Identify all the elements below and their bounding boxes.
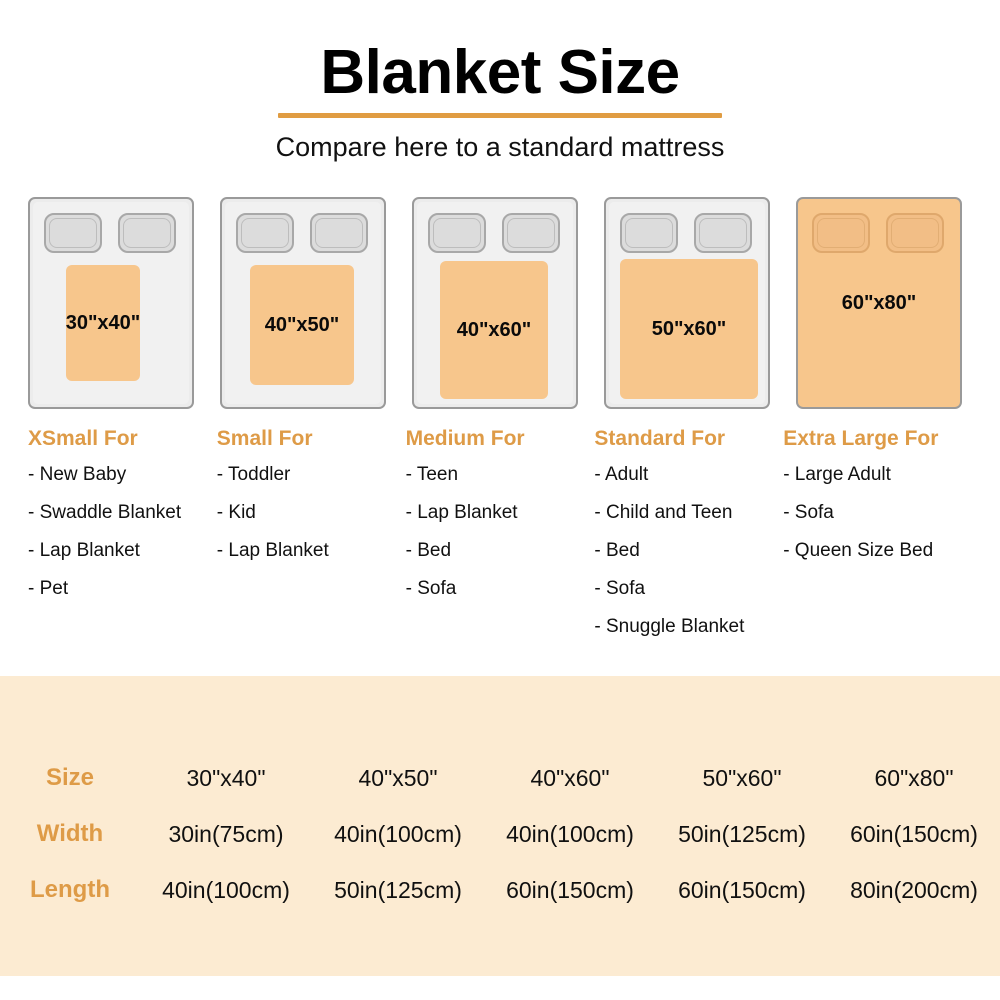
pillow-icon-right — [310, 213, 368, 253]
pillow-icon-left — [236, 213, 294, 253]
bed-column-small: 40"x50" — [220, 197, 396, 409]
blanket-size-label: 40"x50" — [265, 314, 340, 337]
table-cell-size: 50"x60" — [656, 750, 828, 806]
table-cell-width: 50in(125cm) — [656, 806, 828, 862]
bed-diagrams-row: 30"x40" 40"x50" 40"x60" — [0, 197, 1000, 409]
usage-column-extra-large: Extra Large For - Large Adult - Sofa - Q… — [783, 427, 972, 654]
usage-item: - Lap Blanket — [406, 502, 595, 524]
page-title: Blanket Size — [0, 42, 1000, 104]
table-cell-length: 50in(125cm) — [312, 862, 484, 918]
usage-column-standard: Standard For - Adult - Child and Teen - … — [594, 427, 783, 654]
usage-column-small: Small For - Toddler - Kid - Lap Blanket — [217, 427, 406, 654]
dimensions-table-band: Size 30"x40" 40"x50" 40"x60" 50"x60" 60"… — [0, 676, 1000, 976]
blanket-size-label: 60"x80" — [842, 292, 917, 315]
usage-item: - Swaddle Blanket — [28, 502, 217, 524]
usage-item: - Kid — [217, 502, 406, 524]
usage-item: - Lap Blanket — [217, 540, 406, 562]
blanket-size-label: 50"x60" — [652, 318, 727, 341]
table-cell-width: 40in(100cm) — [312, 806, 484, 862]
pillow-icon-right — [502, 213, 560, 253]
usage-item: - Bed — [594, 540, 783, 562]
page-header: Blanket Size Compare here to a standard … — [0, 0, 1000, 163]
table-cell-width: 30in(75cm) — [140, 806, 312, 862]
usage-column-xsmall: XSmall For - New Baby - Swaddle Blanket … — [28, 427, 217, 654]
blanket-overlay-small: 40"x50" — [250, 265, 354, 385]
bed-diagram-medium: 40"x60" — [412, 197, 578, 409]
bed-column-xsmall: 30"x40" — [28, 197, 204, 409]
row-label-width: Width — [0, 806, 140, 862]
blanket-overlay-medium: 40"x60" — [440, 261, 548, 399]
usage-heading-xsmall: XSmall For — [28, 427, 217, 451]
usage-column-medium: Medium For - Teen - Lap Blanket - Bed - … — [406, 427, 595, 654]
usage-item: - Teen — [406, 464, 595, 486]
usage-item: - New Baby — [28, 464, 217, 486]
table-cell-size: 40"x60" — [484, 750, 656, 806]
table-cell-length: 60in(150cm) — [656, 862, 828, 918]
row-label-length: Length — [0, 862, 140, 918]
blanket-size-label: 30"x40" — [66, 312, 141, 335]
usage-item: - Lap Blanket — [28, 540, 217, 562]
blanket-size-label: 40"x60" — [457, 319, 532, 342]
usage-item: - Large Adult — [783, 464, 972, 486]
table-row-width: Width 30in(75cm) 40in(100cm) 40in(100cm)… — [0, 806, 1000, 862]
blanket-overlay-extra-large: 60"x80" — [801, 202, 957, 404]
usage-item: - Bed — [406, 540, 595, 562]
row-label-size: Size — [0, 750, 140, 806]
usage-heading-extra-large: Extra Large For — [783, 427, 972, 451]
usage-item: - Pet — [28, 578, 217, 600]
table-row-length: Length 40in(100cm) 50in(125cm) 60in(150c… — [0, 862, 1000, 918]
table-cell-width: 60in(150cm) — [828, 806, 1000, 862]
usage-heading-standard: Standard For — [594, 427, 783, 451]
table-cell-length: 40in(100cm) — [140, 862, 312, 918]
bed-column-extra-large: 60"x80" — [796, 197, 972, 409]
usage-item: - Sofa — [406, 578, 595, 600]
bed-column-medium: 40"x60" — [412, 197, 588, 409]
dimensions-table: Size 30"x40" 40"x50" 40"x60" 50"x60" 60"… — [0, 750, 1000, 918]
table-row-size: Size 30"x40" 40"x50" 40"x60" 50"x60" 60"… — [0, 750, 1000, 806]
blanket-overlay-xsmall: 30"x40" — [66, 265, 140, 381]
page-subtitle: Compare here to a standard mattress — [0, 132, 1000, 163]
pillow-icon-right — [694, 213, 752, 253]
bed-diagram-small: 40"x50" — [220, 197, 386, 409]
bed-diagram-xsmall: 30"x40" — [28, 197, 194, 409]
usage-item: - Snuggle Blanket — [594, 616, 783, 638]
table-cell-length: 80in(200cm) — [828, 862, 1000, 918]
table-cell-size: 60"x80" — [828, 750, 1000, 806]
usage-item: - Child and Teen — [594, 502, 783, 524]
table-cell-length: 60in(150cm) — [484, 862, 656, 918]
table-cell-width: 40in(100cm) — [484, 806, 656, 862]
table-cell-size: 40"x50" — [312, 750, 484, 806]
bed-diagram-standard: 50"x60" — [604, 197, 770, 409]
usage-columns-row: XSmall For - New Baby - Swaddle Blanket … — [0, 427, 1000, 654]
usage-item: - Toddler — [217, 464, 406, 486]
table-cell-size: 30"x40" — [140, 750, 312, 806]
title-underline-rule — [278, 113, 722, 118]
usage-heading-medium: Medium For — [406, 427, 595, 451]
blanket-overlay-standard: 50"x60" — [620, 259, 758, 399]
usage-item: - Sofa — [594, 578, 783, 600]
pillow-icon-left — [44, 213, 102, 253]
bed-column-standard: 50"x60" — [604, 197, 780, 409]
usage-item: - Adult — [594, 464, 783, 486]
pillow-icon-left — [428, 213, 486, 253]
bed-diagram-extra-large: 60"x80" — [796, 197, 962, 409]
usage-item: - Sofa — [783, 502, 972, 524]
usage-heading-small: Small For — [217, 427, 406, 451]
pillow-icon-left — [620, 213, 678, 253]
pillow-icon-right — [118, 213, 176, 253]
usage-item: - Queen Size Bed — [783, 540, 972, 562]
